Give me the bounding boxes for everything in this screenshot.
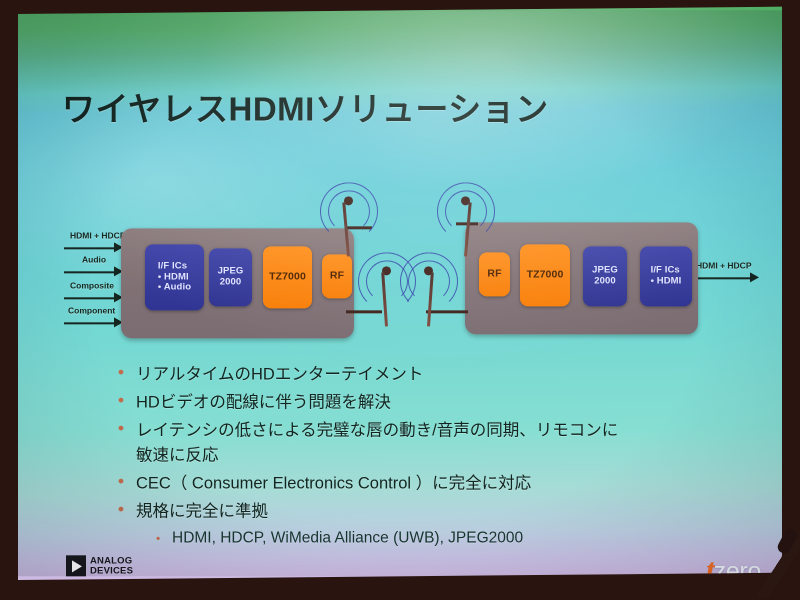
analog-devices-logo: ANALOG DEVICES (66, 555, 133, 576)
bullet-item: • リアルタイムのHDエンターテイメント (118, 362, 738, 387)
bullet-item: • レイテンシの低さによる完璧な唇の動き/音声の同期、リモコンに 敏速に反応 (118, 418, 738, 468)
chip-jpeg2000-tx: JPEG 2000 (209, 248, 252, 306)
arrow-head (750, 272, 759, 282)
antenna-receive-upper (435, 188, 495, 258)
bullet-text: リアルタイムのHDエンターテイメント (136, 362, 423, 387)
chip-line: RF (487, 268, 501, 280)
chip-line: • Audio (158, 283, 191, 294)
chip-line: • HDMI (651, 276, 682, 287)
bullet-text: 規格に完全に準拠 (136, 499, 268, 524)
bullet-line-2: 敏速に反応 (136, 443, 618, 468)
arrow-line (64, 322, 114, 324)
chip-line: 2000 (218, 277, 244, 288)
bullet-line-1: HDビデオの配線に伴う問題を解決 (136, 393, 391, 411)
analog-devices-wordmark: ANALOG DEVICES (90, 556, 133, 575)
output-label: HDMI + HDCP (696, 260, 752, 270)
slide-title: ワイヤレスHDMIソリューション (62, 82, 549, 130)
bullet-line-1: CEC（ Consumer Electronics Control ）に完全に対… (136, 474, 531, 492)
bullet-item: • HDビデオの配線に伴う問題を解決 (118, 390, 738, 415)
bullet-item: • CEC（ Consumer Electronics Control ）に完全… (118, 471, 738, 496)
projected-slide-photo: ワイヤレスHDMIソリューション HDMI + HDCP Audio Compo… (0, 0, 800, 600)
sub-bullet-item: • HDMI, HDCP, WiMedia Alliance (UWB), JP… (156, 527, 738, 549)
chip-if-ics-tx: I/F ICs • HDMI • Audio (145, 244, 204, 310)
arrow-line (64, 247, 114, 249)
bullet-line-1: 規格に完全に準拠 (136, 502, 268, 520)
bullet-text: CEC（ Consumer Electronics Control ）に完全に対… (136, 471, 531, 496)
wave-arc (320, 182, 378, 240)
bullet-line-1: リアルタイムのHDエンターテイメント (136, 365, 423, 383)
page-number: 12 (470, 575, 479, 580)
bullet-list: • リアルタイムのHDエンターテイメント • HDビデオの配線に伴う問題を解決 … (118, 362, 738, 549)
chip-tz7000-tx: TZ7000 (263, 246, 312, 308)
arrow-line (64, 297, 114, 299)
bullet-item: • 規格に完全に準拠 (118, 499, 738, 524)
chip-line: TZ7000 (527, 269, 564, 281)
bullet-text: レイテンシの低さによる完璧な唇の動き/音声の同期、リモコンに 敏速に反応 (136, 418, 618, 468)
bullet-marker: • (118, 418, 136, 438)
bullet-marker: • (118, 362, 136, 382)
tzero-wordmark: zero (714, 559, 761, 580)
chip-jpeg2000-rx: JPEG 2000 (583, 246, 627, 306)
chip-line: 2000 (592, 276, 618, 287)
presentation-slide: ワイヤレスHDMIソリューション HDMI + HDCP Audio Compo… (18, 7, 782, 580)
chip-tz7000-rx: TZ7000 (520, 244, 570, 306)
input-label: Component (68, 305, 115, 315)
chip-line: RF (330, 270, 344, 282)
chip-if-ics-rx: I/F ICs • HDMI (640, 246, 692, 306)
chip-line: TZ7000 (269, 271, 306, 283)
bullet-marker: • (118, 471, 136, 491)
footer-confidentiality-note: ©2008 Tzero Technologies Confidential an… (306, 576, 476, 580)
chip-rf-tx: RF (322, 254, 352, 298)
bullet-text: HDビデオの配線に伴う問題を解決 (136, 390, 391, 415)
sub-bullet-text: HDMI, HDCP, WiMedia Alliance (UWB), JPEG… (172, 527, 523, 549)
input-label: Composite (70, 280, 114, 290)
bullet-marker: • (118, 499, 136, 519)
triangle-glyph (72, 560, 82, 572)
sub-bullet-marker: • (156, 527, 172, 549)
receiver-box: RF TZ7000 JPEG 2000 I/F ICs • HDMI (465, 222, 698, 334)
input-label: Audio (82, 254, 106, 264)
antenna-transmit-upper (318, 188, 378, 258)
arrow-line (694, 277, 750, 279)
input-label: HDMI + HDCP (70, 230, 126, 240)
bullet-line-1: レイテンシの低さによる完璧な唇の動き/音声の同期、リモコンに (136, 421, 618, 439)
logo-line-2: DEVICES (90, 566, 133, 576)
antenna-receive-lower (398, 258, 458, 328)
arrow-line (64, 271, 114, 273)
bullet-marker: • (118, 390, 136, 410)
analog-devices-triangle-icon (66, 555, 86, 576)
chip-rf-rx: RF (479, 252, 510, 296)
